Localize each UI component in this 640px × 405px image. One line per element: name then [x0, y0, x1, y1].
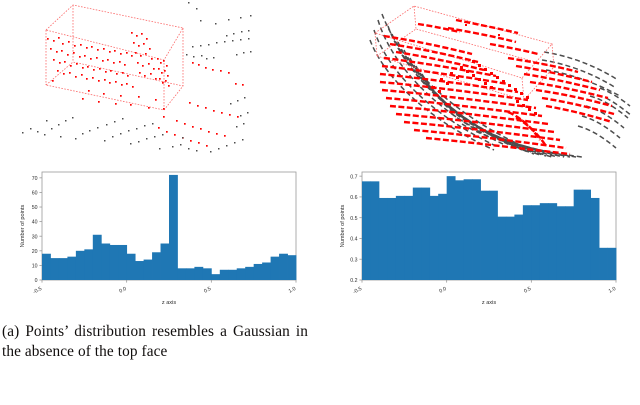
x-axis-label: z axis: [482, 300, 497, 306]
histogram-bar: [557, 206, 566, 280]
y-axis-label: Number of points: [20, 205, 26, 248]
histogram-bar: [370, 181, 379, 280]
y-tick-label: 0: [35, 278, 38, 284]
histogram-bar: [565, 206, 574, 280]
pointcloud-b-svg: [320, 0, 640, 158]
histogram-bar: [144, 260, 153, 280]
histogram-bar: [237, 268, 246, 280]
histogram-bar: [118, 245, 127, 280]
histogram-bar: [540, 203, 549, 280]
y-tick-label: 0.3: [350, 257, 357, 263]
histogram-bar: [396, 196, 405, 280]
histogram-bar: [472, 179, 481, 280]
histogram-bar: [42, 254, 51, 280]
histogram-bar: [93, 235, 102, 280]
histogram-bar: [599, 248, 608, 280]
histogram-a: 010203040506070-0.50.00.51.0z axisNumber…: [0, 160, 320, 315]
histogram-bar: [228, 270, 237, 280]
y-tick-label: 70: [32, 176, 38, 182]
histogram-bar: [531, 205, 540, 280]
histogram-bar: [220, 270, 229, 280]
y-tick-label: 0.7: [350, 174, 357, 180]
x-axis-label: z axis: [162, 300, 177, 306]
histogram-bar: [582, 190, 591, 280]
histogram-bar: [288, 255, 297, 280]
histogram-bar: [514, 215, 523, 280]
y-tick-label: 0.5: [350, 216, 357, 222]
y-tick-label: 0.6: [350, 195, 357, 201]
histogram-bar: [279, 254, 288, 280]
histogram-bar: [76, 251, 85, 280]
histogram-b: 0.20.30.40.50.60.7-0.50.00.51.0z axisNum…: [320, 160, 640, 315]
histogram-bar: [194, 267, 203, 280]
y-tick-label: 10: [32, 264, 38, 270]
histogram-bar: [211, 274, 220, 280]
histogram-bar: [523, 205, 532, 280]
histogram-bar: [430, 196, 439, 280]
caption-a-text: Points’ distribution resembles a Gaussia…: [2, 323, 308, 360]
histogram-bar: [59, 258, 68, 280]
y-tick-label: 40: [32, 220, 38, 226]
y-tick-label: 20: [32, 249, 38, 255]
histogram-bar: [413, 188, 422, 280]
histogram-bar: [245, 267, 254, 280]
histogram-bar: [177, 268, 186, 280]
histogram-bar: [67, 257, 76, 280]
pointcloud-a: [0, 0, 320, 158]
histogram-bar: [152, 252, 161, 280]
histogram-bar: [161, 244, 170, 280]
histogram-bar: [481, 191, 490, 280]
histogram-bar: [574, 190, 583, 280]
pointcloud-b: [320, 0, 640, 158]
figure-container: 010203040506070-0.50.00.51.0z axisNumber…: [0, 0, 640, 405]
histogram-bar: [362, 181, 371, 280]
histogram-bar: [489, 191, 498, 280]
histogram-bar: [438, 194, 447, 280]
y-tick-label: 60: [32, 191, 38, 197]
caption-a-label: (a): [2, 323, 19, 340]
histogram-bar: [203, 268, 212, 280]
histogram-bar: [127, 254, 136, 280]
histogram-bar: [455, 180, 464, 280]
y-axis-label: Number of points: [340, 205, 346, 248]
caption-a: (a) Points’ distribution resembles a Gau…: [2, 322, 308, 362]
histogram-bar: [50, 258, 59, 280]
histogram-bar: [84, 249, 93, 280]
histogram-bar: [186, 268, 195, 280]
histogram-bar: [169, 175, 178, 280]
y-tick-label: 30: [32, 234, 38, 240]
y-tick-label: 50: [32, 205, 38, 211]
y-tick-label: 0.4: [350, 237, 357, 243]
histogram-bar: [262, 262, 271, 280]
subfigure-a: 010203040506070-0.50.00.51.0z axisNumber…: [0, 0, 320, 405]
histogram-bar: [608, 248, 617, 280]
histogram-bar: [254, 264, 263, 280]
plot-background: [0, 160, 320, 315]
histogram-bar: [379, 198, 388, 280]
histogram-bar: [447, 176, 456, 280]
histogram-bar: [110, 245, 119, 280]
histogram-b-svg: 0.20.30.40.50.60.7-0.50.00.51.0z axisNum…: [320, 160, 640, 315]
histogram-bar: [497, 217, 506, 280]
y-tick-label: 0.2: [350, 278, 357, 284]
pointcloud-a-svg: [0, 0, 320, 158]
histogram-bar: [506, 217, 515, 280]
histogram-bar: [101, 244, 110, 280]
histogram-bar: [271, 257, 280, 280]
histogram-bar: [135, 261, 144, 280]
histogram-a-svg: 010203040506070-0.50.00.51.0z axisNumber…: [0, 160, 320, 315]
histogram-bar: [421, 188, 430, 280]
histogram-bar: [387, 198, 396, 280]
histogram-bar: [464, 179, 473, 280]
histogram-bar: [548, 203, 557, 280]
histogram-bar: [404, 196, 413, 280]
histogram-bar: [591, 198, 600, 280]
subfigure-b: 0.20.30.40.50.60.7-0.50.00.51.0z axisNum…: [320, 0, 640, 405]
